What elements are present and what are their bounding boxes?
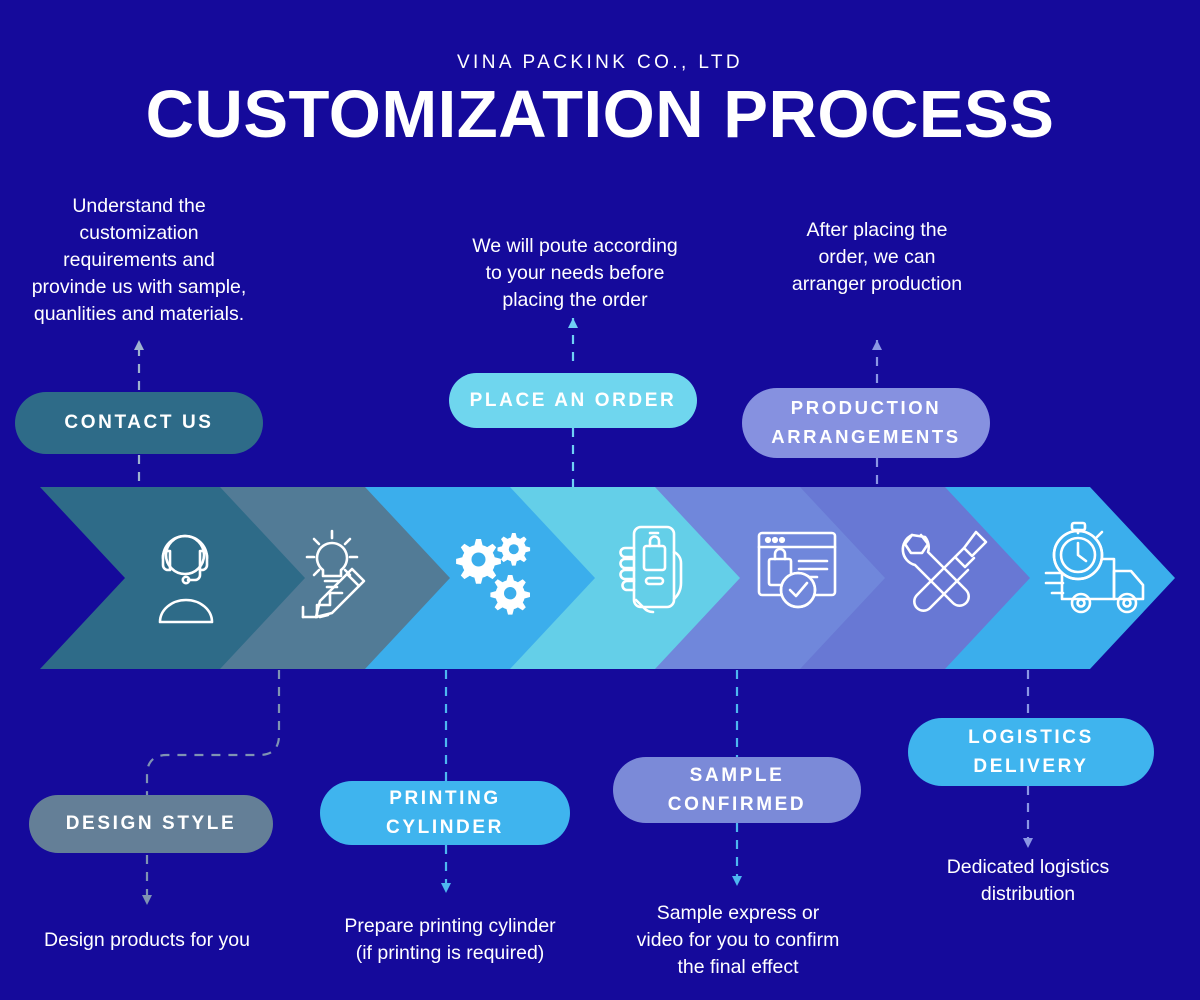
caption-design-style: Design products for you <box>17 927 277 954</box>
process-chevron-band <box>0 487 1200 669</box>
pill-sample-confirmed[interactable]: SAMPLE CONFIRMED <box>613 757 861 823</box>
pill-logistics-delivery[interactable]: LOGISTICS DELIVERY <box>908 718 1154 786</box>
infographic-canvas: VINA PACKINK CO., LTD CUSTOMIZATION PROC… <box>0 0 1200 1000</box>
caption-contact-us: Understand the customization requirement… <box>8 193 270 328</box>
caption-place-an-order: We will poute according to your needs be… <box>447 233 703 314</box>
pill-place-an-order[interactable]: PLACE AN ORDER <box>449 373 697 428</box>
pill-production-arrangements[interactable]: PRODUCTION ARRANGEMENTS <box>742 388 990 458</box>
caption-logistics-delivery: Dedicated logistics distribution <box>900 854 1156 908</box>
caption-production-arrangements: After placing the order, we can arranger… <box>762 217 992 298</box>
caption-printing-cylinder: Prepare printing cylinder (if printing i… <box>320 913 580 967</box>
pill-design-style[interactable]: DESIGN STYLE <box>29 795 273 853</box>
pill-printing-cylinder[interactable]: PRINTING CYLINDER <box>320 781 570 845</box>
pill-contact-us[interactable]: CONTACT US <box>15 392 263 454</box>
caption-sample-confirmed: Sample express or video for you to confi… <box>611 900 865 981</box>
